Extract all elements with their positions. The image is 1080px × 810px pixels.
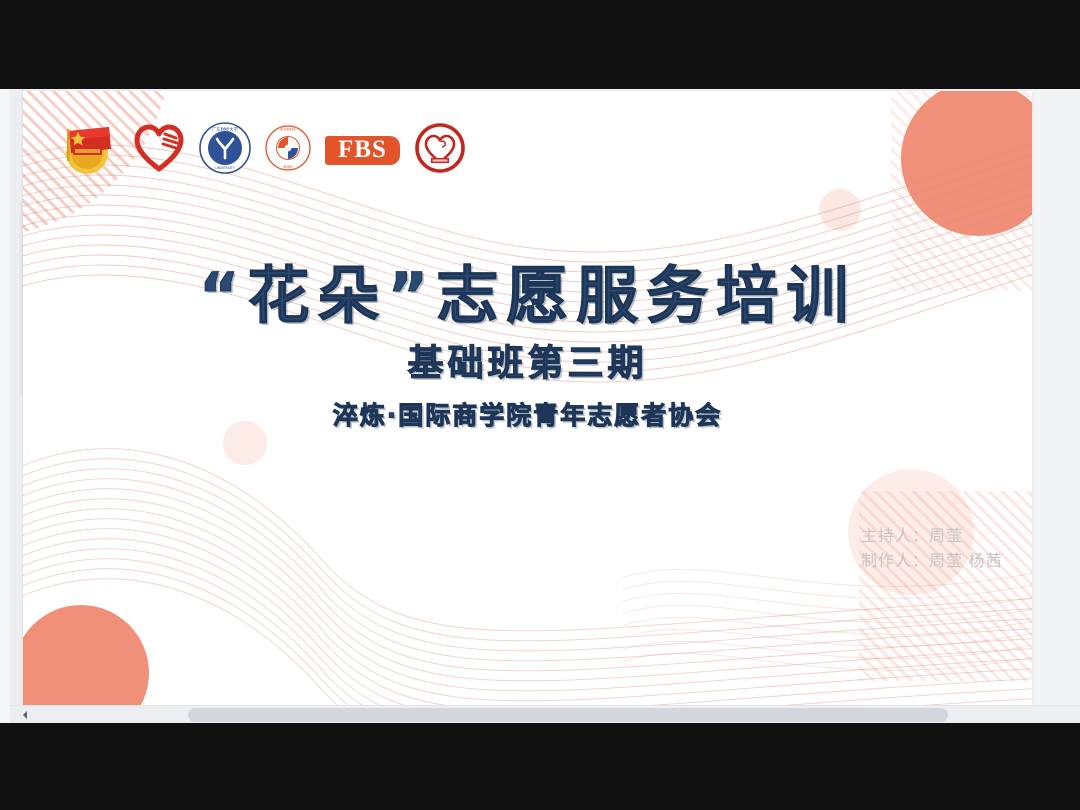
logo-strip: 广东财经大学 UNIVERSITY BUSINESS 商学院: [59, 117, 466, 183]
vertical-scrollbar[interactable]: [10, 89, 24, 705]
letterbox-bar-top: [0, 0, 1080, 89]
document-pane: 广东财经大学 UNIVERSITY BUSINESS 商学院: [0, 89, 1080, 723]
presenter-credits: 主持人：周莹 制作人：周莹 杨茜: [861, 525, 1032, 575]
svg-text:BUSINESS: BUSINESS: [280, 127, 295, 131]
maker-line: 制作人：周莹 杨茜: [861, 550, 1032, 575]
red-heart-circle-icon: [414, 122, 466, 179]
host-line: 主持人：周莹: [861, 525, 1032, 550]
svg-text:UNIVERSITY: UNIVERSITY: [215, 166, 236, 170]
slide-viewer-window: 广东财经大学 UNIVERSITY BUSINESS 商学院: [0, 0, 1080, 810]
volunteer-heart-hand-icon: [133, 122, 185, 179]
wave-lines-right: [623, 471, 1032, 723]
communist-youth-league-emblem-icon: [59, 119, 119, 182]
fbs-banner-logo: FBS: [325, 135, 400, 165]
svg-text:广东财经大学: 广东财经大学: [212, 126, 238, 133]
scroll-left-arrow-icon[interactable]: [18, 708, 32, 722]
organization-name: 淬炼·国际商学院青年志愿者协会: [23, 402, 1032, 430]
horizontal-scrollbar[interactable]: [10, 705, 1080, 723]
right-gutter: [1032, 89, 1080, 723]
orange-college-seal-icon: BUSINESS 商学院: [265, 125, 311, 176]
subtitle: 基础班第三期: [23, 344, 1032, 384]
title-block: “花朵”志愿服务培训 基础班第三期 淬炼·国际商学院青年志愿者协会: [23, 263, 1032, 429]
pale-circle-small-right: [819, 189, 861, 231]
horizontal-scrollbar-thumb[interactable]: [188, 708, 948, 722]
salmon-circle-top-right: [901, 91, 1032, 236]
fbs-text: FBS: [325, 136, 400, 165]
presentation-slide[interactable]: 广东财经大学 UNIVERSITY BUSINESS 商学院: [23, 91, 1032, 723]
hatch-decoration-bottom-right: [859, 491, 1032, 681]
letterbox-bar-bottom: [0, 723, 1080, 810]
university-seal-icon: 广东财经大学 UNIVERSITY: [199, 122, 251, 179]
svg-text:商学院: 商学院: [283, 164, 292, 169]
page-title: “花朵”志愿服务培训: [23, 263, 1032, 330]
hatch-decoration-top-right: [891, 91, 1032, 291]
